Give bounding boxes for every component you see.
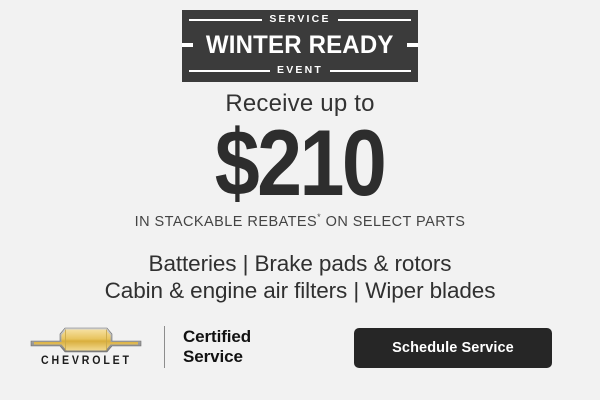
badge-event-label: EVENT [277,65,323,77]
chevrolet-wordmark: CHEVROLET [41,356,132,368]
badge-dashes-left-icon [182,43,193,47]
badge-rule-left [189,70,270,72]
winter-ready-service-ad: SERVICE WINTER READY [0,0,600,400]
badge-rule-right [330,70,411,72]
schedule-service-button[interactable]: Schedule Service [354,328,552,368]
covered-parts-list: Batteries | Brake pads & rotors Cabin & … [0,250,600,304]
offer-subtext: IN STACKABLE REBATES* ON SELECT PARTS [0,215,600,230]
certified-service-line-2: Service [183,347,251,367]
badge-main-row: WINTER READY [182,33,418,58]
offer-footnote-marker: * [317,212,321,222]
offer-amount-value: $210 [215,116,385,210]
badge-service-label: SERVICE [269,14,330,26]
badge-rule-left [189,19,262,21]
brand-divider [164,326,165,368]
badge-event-band: EVENT [182,60,418,82]
badge-rule-right [338,19,411,21]
offer-subtext-main: IN STACKABLE REBATES [135,214,318,230]
chevrolet-bowtie-icon [30,327,142,353]
covered-parts-line-1: Batteries | Brake pads & rotors [0,250,600,277]
dash-icon [407,43,418,47]
offer-subtext-tail: ON SELECT PARTS [326,214,466,230]
chevrolet-logo: CHEVROLET [30,327,142,368]
badge-main-label: WINTER READY [206,33,394,58]
badge-main-band: WINTER READY [182,30,418,60]
dash-icon [182,43,193,47]
brand-lockup: CHEVROLET Certified Service [30,322,251,372]
certified-service-line-1: Certified [183,327,251,347]
badge-event-rule-row: EVENT [182,65,418,77]
badge-dashes-right-icon [407,43,418,47]
badge-service-band: SERVICE [182,10,418,30]
certified-service-label: Certified Service [183,327,251,367]
badge-service-rule-row: SERVICE [182,14,418,26]
offer-amount: $210 [0,116,600,210]
winter-ready-badge: SERVICE WINTER READY [182,10,418,82]
covered-parts-line-2: Cabin & engine air filters | Wiper blade… [0,277,600,304]
